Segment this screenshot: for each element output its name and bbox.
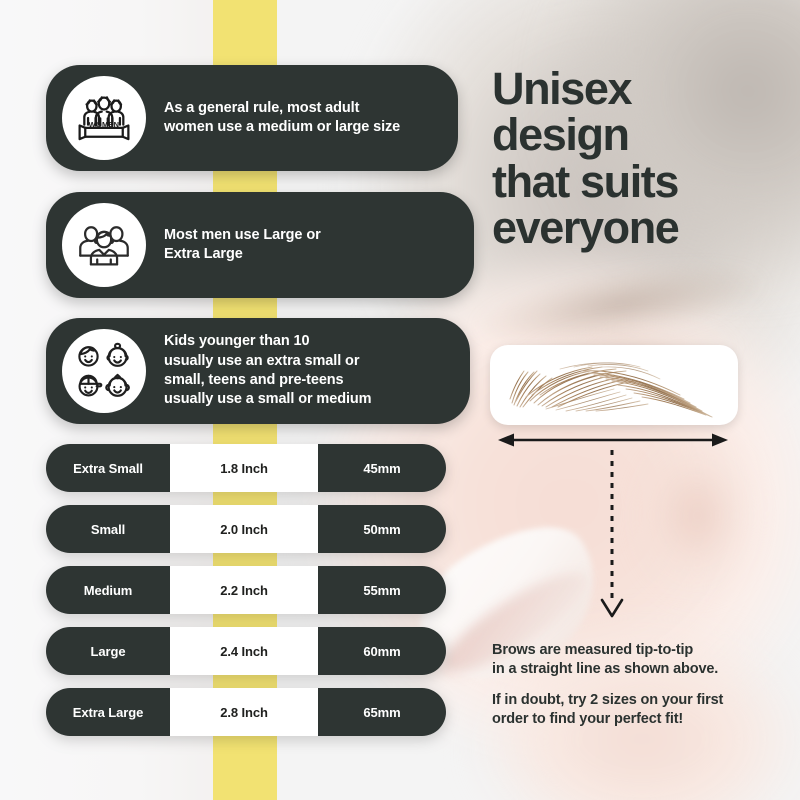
size-inch-cell: 2.4 Inch	[170, 627, 318, 675]
eyebrow-sample-image	[490, 345, 738, 425]
infographic-canvas: Unisex design that suits everyone	[0, 0, 800, 800]
size-inch-cell: 2.2 Inch	[170, 566, 318, 614]
size-name-cell: Extra Large	[46, 688, 170, 736]
size-name-cell: Large	[46, 627, 170, 675]
info-card-kids: Kids younger than 10 usually use an extr…	[46, 318, 470, 424]
table-row[interactable]: Extra Large2.8 Inch65mm	[46, 688, 446, 736]
info-card-kids-text: Kids younger than 10 usually use an extr…	[164, 332, 371, 410]
eyebrow-sample-card	[490, 345, 738, 425]
double-headed-measure-arrow	[498, 432, 728, 448]
table-row[interactable]: Large2.4 Inch60mm	[46, 627, 446, 675]
sizing-advice-note: If in doubt, try 2 sizes on your first o…	[492, 691, 797, 729]
size-name-cell: Medium	[46, 566, 170, 614]
kids-faces-icon	[62, 329, 146, 413]
table-row[interactable]: Small2.0 Inch50mm	[46, 505, 446, 553]
size-mm-cell: 50mm	[318, 505, 446, 553]
size-inch-cell: 2.8 Inch	[170, 688, 318, 736]
dashed-down-arrow	[594, 450, 630, 620]
size-mm-cell: 65mm	[318, 688, 446, 736]
size-mm-cell: 45mm	[318, 444, 446, 492]
size-inch-cell: 2.0 Inch	[170, 505, 318, 553]
size-name-cell: Extra Small	[46, 444, 170, 492]
size-inch-cell: 1.8 Inch	[170, 444, 318, 492]
table-row[interactable]: Extra Small1.8 Inch45mm	[46, 444, 446, 492]
table-row[interactable]: Medium2.2 Inch55mm	[46, 566, 446, 614]
measurement-note: Brows are measured tip-to-tip in a strai…	[492, 641, 792, 679]
size-mm-cell: 55mm	[318, 566, 446, 614]
size-mm-cell: 60mm	[318, 627, 446, 675]
women-group-icon: WOMEN	[62, 76, 146, 160]
size-name-cell: Small	[46, 505, 170, 553]
info-card-men: Most men use Large or Extra Large	[46, 192, 474, 298]
info-card-men-text: Most men use Large or Extra Large	[164, 226, 321, 265]
info-card-women: WOMEN As a general rule, most adult wome…	[46, 65, 458, 171]
page-title: Unisex design that suits everyone	[492, 66, 792, 251]
info-card-women-text: As a general rule, most adult women use …	[164, 99, 400, 138]
women-banner-label: WOMEN	[89, 120, 120, 129]
men-group-icon	[62, 203, 146, 287]
